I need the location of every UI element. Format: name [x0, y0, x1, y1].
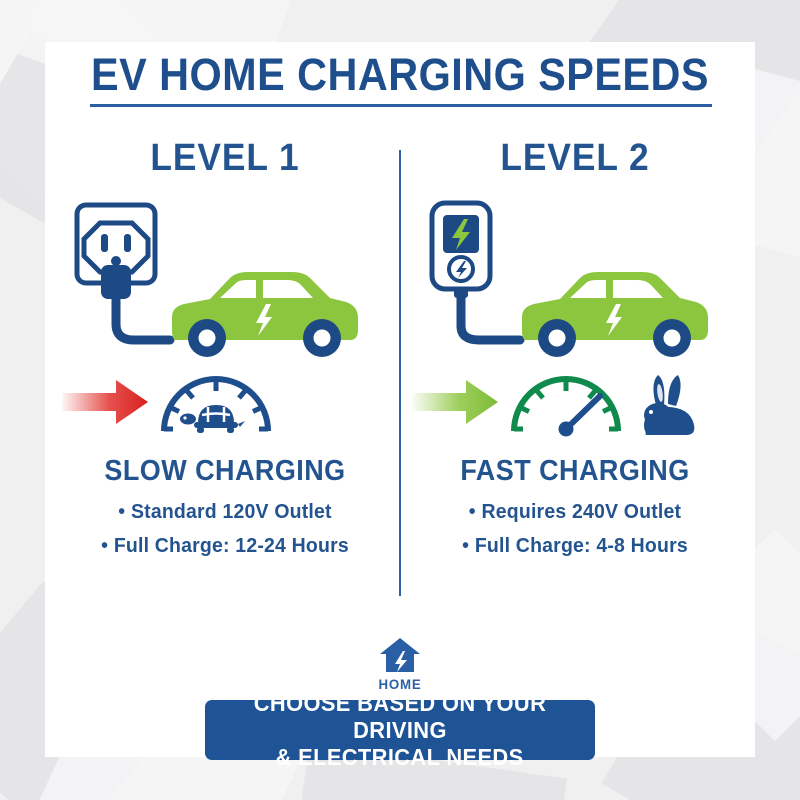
level-1-illustration: [60, 199, 390, 359]
level-2-heading: LEVEL 2: [422, 137, 729, 180]
level-1-speed-indicator: [60, 367, 390, 447]
red-arrow-icon: [62, 380, 148, 424]
bullet-glyph: •: [462, 529, 469, 563]
level-2-column: LEVEL 2: [410, 137, 740, 602]
electric-car-icon: [522, 272, 708, 357]
bullet-glyph: •: [469, 495, 476, 529]
level-1-bullet-list: •Standard 120V Outlet •Full Charge: 12-2…: [60, 495, 390, 563]
green-arrow-icon: [412, 380, 498, 424]
fast-speed-gauge-icon: [514, 379, 618, 437]
conclusion-banner: CHOOSE BASED ON YOUR DRIVING & ELECTRICA…: [205, 700, 595, 760]
list-item: •Standard 120V Outlet: [68, 495, 382, 529]
list-item: •Requires 240V Outlet: [418, 495, 732, 529]
wall-outlet-icon: [77, 205, 170, 340]
turtle-icon: [180, 405, 245, 433]
level-2-charge-heading: FAST CHARGING: [422, 455, 729, 488]
rabbit-icon: [644, 375, 694, 435]
list-item: •Full Charge: 4-8 Hours: [418, 529, 732, 563]
column-divider: [399, 150, 401, 596]
infographic-canvas: EV HOME CHARGING SPEEDS LEVEL 1: [0, 0, 800, 800]
house-with-bolt-icon: [377, 635, 423, 675]
page-title: EV HOME CHARGING SPEEDS: [73, 49, 726, 101]
home-block: HOME: [45, 635, 755, 692]
bullet-glyph: •: [101, 529, 108, 563]
main-card: EV HOME CHARGING SPEEDS LEVEL 1: [45, 42, 755, 757]
electric-car-icon: [172, 272, 358, 357]
level-1-column: LEVEL 1: [60, 137, 390, 602]
level-1-heading: LEVEL 1: [72, 137, 379, 180]
banner-line-1: CHOOSE BASED ON YOUR DRIVING: [215, 690, 586, 744]
level-2-illustration: [410, 199, 740, 359]
title-divider-rule: [90, 104, 712, 107]
level-2-bullet-list: •Requires 240V Outlet •Full Charge: 4-8 …: [410, 495, 740, 563]
list-item-label: Full Charge: 4-8 Hours: [475, 534, 688, 557]
wallbox-charger-icon: [432, 203, 520, 340]
level-2-speed-indicator: [410, 367, 740, 447]
list-item-label: Full Charge: 12-24 Hours: [114, 534, 349, 557]
level-1-charge-heading: SLOW CHARGING: [72, 455, 379, 488]
list-item-label: Requires 240V Outlet: [481, 500, 681, 523]
banner-line-2: & ELECTRICAL NEEDS: [276, 744, 524, 771]
list-item: •Full Charge: 12-24 Hours: [68, 529, 382, 563]
bullet-glyph: •: [118, 495, 125, 529]
list-item-label: Standard 120V Outlet: [131, 500, 332, 523]
